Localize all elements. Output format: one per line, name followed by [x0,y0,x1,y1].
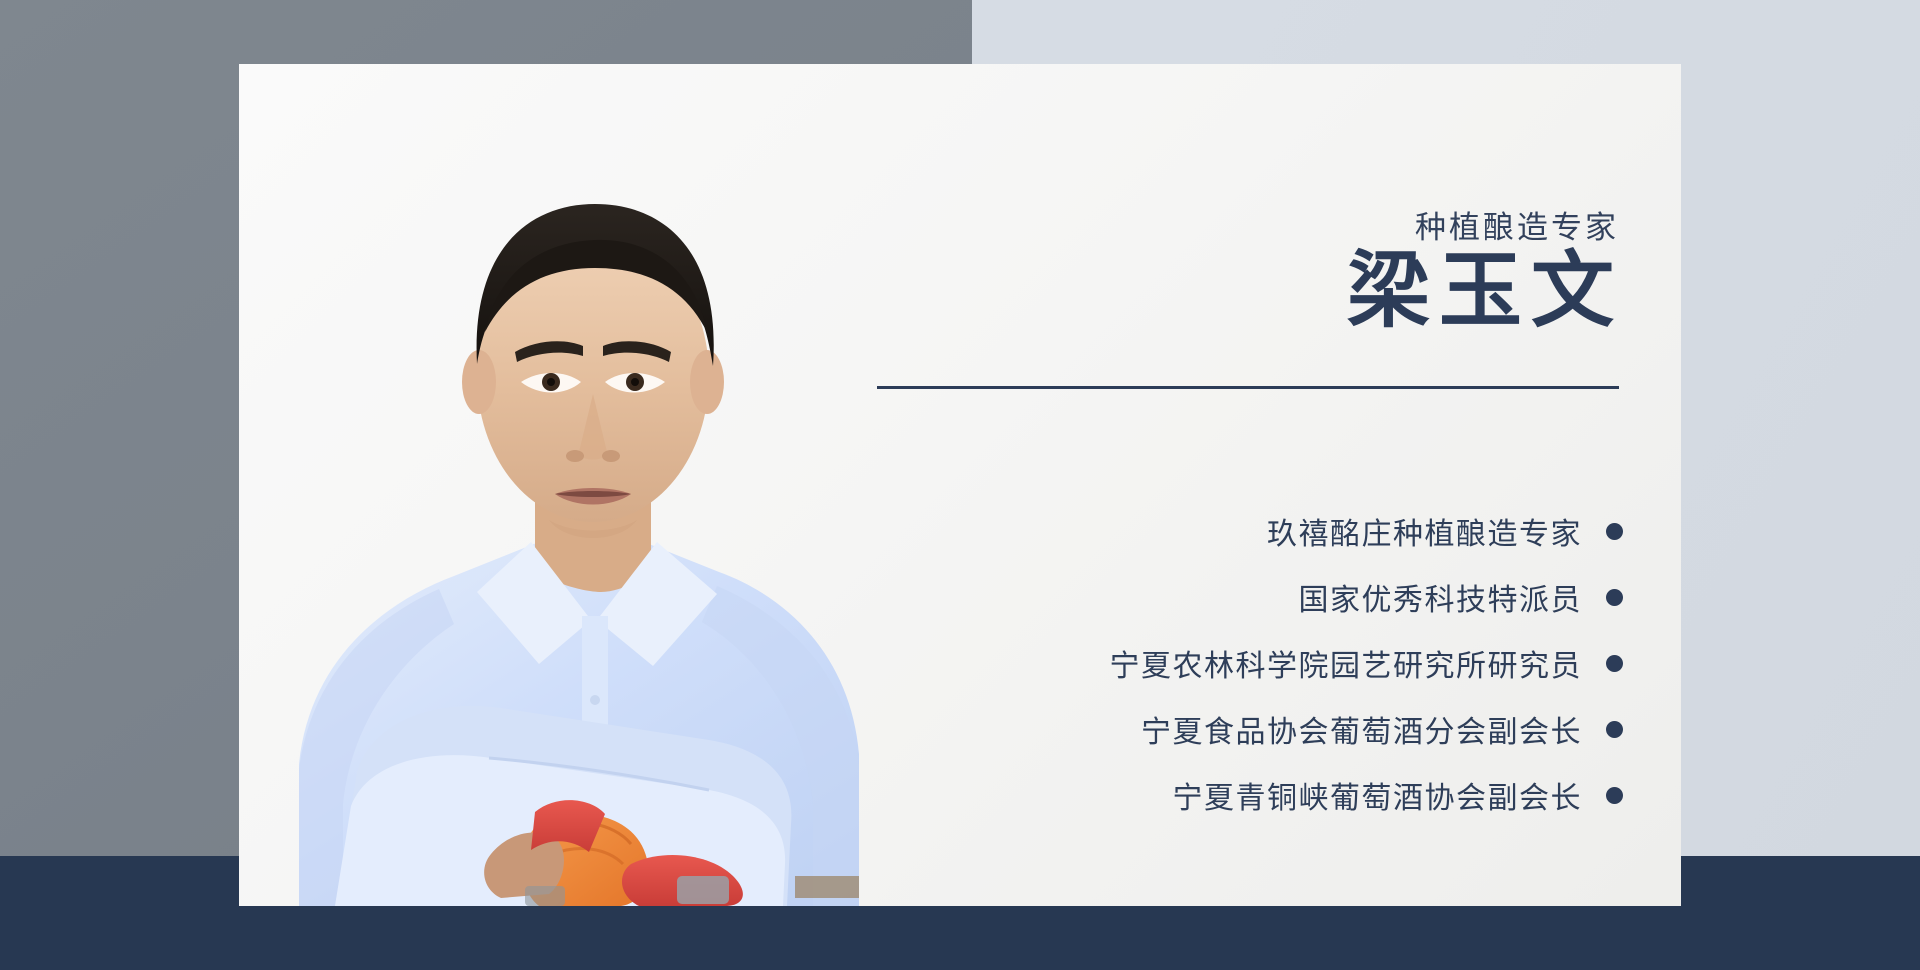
bullet-dot-icon [1606,589,1623,606]
banner-stage: 种植酿造专家 梁玉文 玖禧酩庄种植酿造专家 国家优秀科技特派员 宁夏农林科学院园… [0,0,1920,970]
profile-text-column: 种植酿造专家 梁玉文 玖禧酩庄种植酿造专家 国家优秀科技特派员 宁夏农林科学院园… [899,64,1681,906]
credentials-list: 玖禧酩庄种植酿造专家 国家优秀科技特派员 宁夏农林科学院园艺研究所研究员 宁夏食… [903,498,1623,828]
credential-label: 国家优秀科技特派员 [1299,575,1583,619]
profile-card: 种植酿造专家 梁玉文 玖禧酩庄种植酿造专家 国家优秀科技特派员 宁夏农林科学院园… [239,64,1681,906]
role-label: 种植酿造专家 [1415,202,1619,247]
list-item: 宁夏青铜峡葡萄酒协会副会长 [903,762,1623,828]
credential-label: 宁夏农林科学院园艺研究所研究员 [1110,641,1583,685]
credential-label: 玖禧酩庄种植酿造专家 [1267,509,1582,553]
portrait-photo [239,64,859,906]
bullet-dot-icon [1606,721,1623,738]
list-item: 宁夏农林科学院园艺研究所研究员 [903,630,1623,696]
person-name: 梁玉文 [1347,244,1623,339]
list-item: 宁夏食品协会葡萄酒分会副会长 [903,696,1623,762]
bullet-dot-icon [1606,523,1623,540]
credential-label: 宁夏食品协会葡萄酒分会副会长 [1141,707,1582,751]
horizontal-divider [877,386,1619,389]
list-item: 国家优秀科技特派员 [903,564,1623,630]
list-item: 玖禧酩庄种植酿造专家 [903,498,1623,564]
bullet-dot-icon [1606,655,1623,672]
bullet-dot-icon [1606,787,1623,804]
portrait-illustration [239,64,859,906]
credential-label: 宁夏青铜峡葡萄酒协会副会长 [1173,773,1583,817]
